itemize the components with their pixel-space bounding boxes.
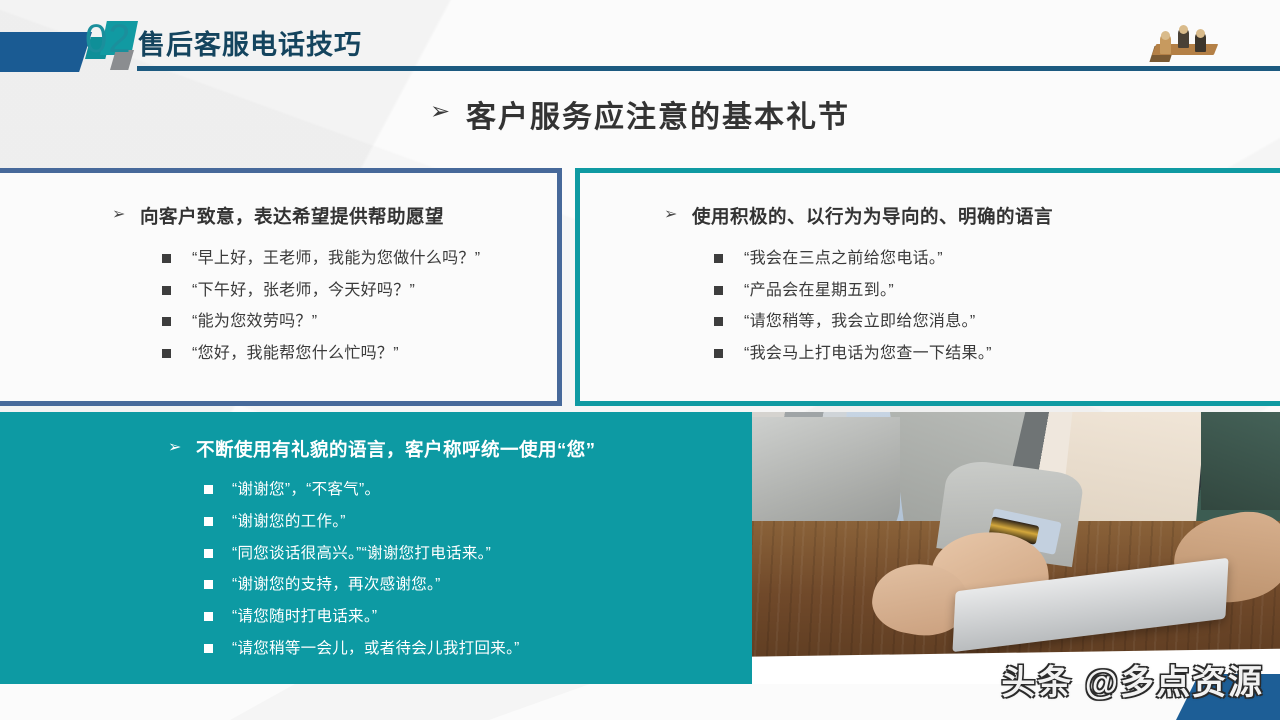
list-item-text: “请您稍等一会儿，或者待会儿我打回来。” bbox=[232, 640, 520, 657]
section-number: 02 bbox=[85, 17, 132, 62]
list-item-text: “谢谢您的工作。” bbox=[232, 513, 346, 530]
square-bullet-icon bbox=[204, 485, 213, 494]
list-item-text: “我会马上打电话为您查一下结果。” bbox=[744, 345, 992, 362]
list-item-text: “产品会在星期五到。” bbox=[744, 282, 894, 299]
list-item-text: “我会在三点之前给您电话。” bbox=[744, 250, 943, 267]
list-item-text: “请您稍等，我会立即给您消息。” bbox=[744, 313, 975, 330]
list-item: “谢谢您的支持，再次感谢您。” bbox=[232, 569, 746, 601]
list-item-text: “请您随时打电话来。” bbox=[232, 608, 377, 625]
square-bullet-icon bbox=[162, 254, 171, 263]
panel-lead: ➢ 使用积极的、以行为为导向的、明确的语言 bbox=[692, 203, 1262, 229]
square-bullet-icon bbox=[204, 517, 213, 526]
list-item-text: “下午好，张老师，今天好吗？” bbox=[192, 282, 415, 299]
arrow-bullet-icon: ➢ bbox=[664, 204, 678, 224]
list-item-text: “谢谢您”，“不客气”。 bbox=[232, 481, 380, 498]
list-item: “我会在三点之前给您电话。” bbox=[744, 243, 1262, 275]
figure-head bbox=[1196, 29, 1205, 38]
arrow-bullet-icon: ➢ bbox=[112, 204, 126, 224]
list-item: “谢谢您的工作。” bbox=[232, 506, 746, 538]
list-item: “谢谢您”，“不客气”。 bbox=[232, 474, 746, 506]
business-meeting-photo bbox=[752, 412, 1280, 684]
list-item: “请您稍等一会儿，或者待会儿我打回来。” bbox=[232, 633, 746, 665]
square-bullet-icon bbox=[162, 286, 171, 295]
panel-lead-text: 使用积极的、以行为为导向的、明确的语言 bbox=[692, 206, 1053, 227]
section-title: 售后客服电话技巧 bbox=[138, 23, 362, 62]
list-item-text: “早上好，王老师，我能为您做什么吗？” bbox=[192, 250, 480, 267]
panel-item-list: “早上好，王老师，我能为您做什么吗？” “下午好，张老师，今天好吗？” “能为您… bbox=[140, 243, 539, 370]
slide-header: 02 售后客服电话技巧 bbox=[0, 0, 1280, 80]
panel-item-list: “我会在三点之前给您电话。” “产品会在星期五到。” “请您稍等，我会立即给您消… bbox=[692, 243, 1262, 370]
list-item: “早上好，王老师，我能为您做什么吗？” bbox=[192, 243, 539, 275]
arrow-bullet-icon: ➢ bbox=[430, 100, 450, 124]
slide: 02 售后客服电话技巧 ➢ 客户服务应注意的基本礼节 ➢ 向客户致意，表达希望提… bbox=[0, 0, 1280, 720]
square-bullet-icon bbox=[204, 644, 213, 653]
square-bullet-icon bbox=[204, 549, 213, 558]
square-bullet-icon bbox=[714, 254, 723, 263]
square-bullet-icon bbox=[162, 317, 171, 326]
watermark: 头条 @多点资源 bbox=[1001, 655, 1264, 704]
square-bullet-icon bbox=[204, 580, 213, 589]
panel-lead-text: 不断使用有礼貌的语言，客户称呼统一使用“您” bbox=[196, 439, 596, 460]
figure-head bbox=[1179, 25, 1188, 34]
logo-blue-shape bbox=[0, 32, 92, 72]
panel-lead: ➢ 向客户致意，表达希望提供帮助愿望 bbox=[140, 203, 539, 229]
page-title: ➢ 客户服务应注意的基本礼节 bbox=[0, 86, 1280, 142]
list-item-text: “谢谢您的支持，再次感谢您。” bbox=[232, 576, 441, 593]
panel-lead: ➢ 不断使用有礼貌的语言，客户称呼统一使用“您” bbox=[196, 436, 746, 462]
square-bullet-icon bbox=[714, 317, 723, 326]
list-item-text: “您好，我能帮您什么忙吗？” bbox=[192, 345, 399, 362]
square-bullet-icon bbox=[714, 349, 723, 358]
page-title-text: 客户服务应注意的基本礼节 bbox=[466, 92, 850, 136]
list-item: “您好，我能帮您什么忙吗？” bbox=[192, 338, 539, 370]
panel-positive-language: ➢ 使用积极的、以行为为导向的、明确的语言 “我会在三点之前给您电话。” “产品… bbox=[575, 168, 1280, 406]
arrow-bullet-icon: ➢ bbox=[168, 437, 182, 457]
panel-polite-language: ➢ 不断使用有礼貌的语言，客户称呼统一使用“您” “谢谢您”，“不客气”。 “谢… bbox=[0, 412, 756, 684]
list-item: “我会马上打电话为您查一下结果。” bbox=[744, 338, 1262, 370]
list-item: “能为您效劳吗？” bbox=[192, 306, 539, 338]
meeting-figures-icon bbox=[1150, 20, 1220, 62]
square-bullet-icon bbox=[714, 286, 723, 295]
list-item: “产品会在星期五到。” bbox=[744, 275, 1262, 307]
list-item: “请您稍等，我会立即给您消息。” bbox=[744, 306, 1262, 338]
photo-green-figure bbox=[1201, 412, 1280, 510]
panel-lead-text: 向客户致意，表达希望提供帮助愿望 bbox=[140, 206, 444, 227]
panel-item-list: “谢谢您”，“不客气”。 “谢谢您的工作。” “同您谈话很高兴。”“谢谢您打电话… bbox=[196, 474, 746, 665]
panel-greeting: ➢ 向客户致意，表达希望提供帮助愿望 “早上好，王老师，我能为您做什么吗？” “… bbox=[0, 168, 562, 406]
list-item: “请您随时打电话来。” bbox=[232, 601, 746, 633]
list-item-text: “同您谈话很高兴。”“谢谢您打电话来。” bbox=[232, 545, 491, 562]
square-bullet-icon bbox=[204, 612, 213, 621]
list-item: “同您谈话很高兴。”“谢谢您打电话来。” bbox=[232, 538, 746, 570]
list-item: “下午好，张老师，今天好吗？” bbox=[192, 275, 539, 307]
list-item-text: “能为您效劳吗？” bbox=[192, 313, 317, 330]
figure-head bbox=[1161, 31, 1170, 40]
header-divider bbox=[137, 66, 1280, 71]
square-bullet-icon bbox=[162, 349, 171, 358]
